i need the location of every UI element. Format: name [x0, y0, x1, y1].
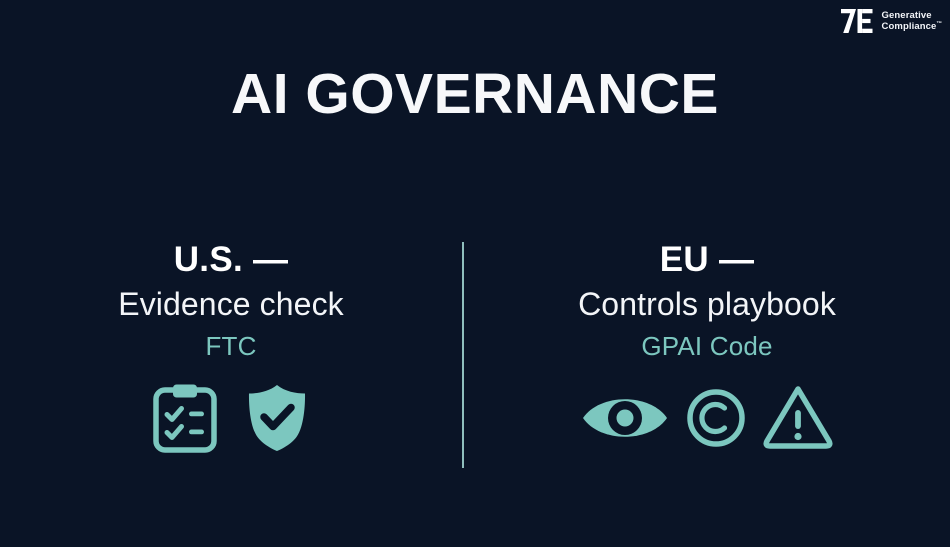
column-eu-tag: GPAI Code: [641, 333, 772, 360]
column-eu-icons: [580, 383, 834, 453]
copyright-icon: [686, 383, 746, 453]
clipboard-checklist-icon: [152, 383, 218, 453]
column-us-tag: FTC: [205, 333, 256, 360]
column-eu-subheading: Controls playbook: [578, 288, 836, 322]
comparison-columns: U.S. — Evidence check FTC: [0, 242, 950, 472]
eye-icon: [580, 383, 670, 453]
page-title: AI GOVERNANCE: [0, 66, 950, 123]
brand-line-1: Generative: [882, 10, 942, 21]
brand-logo: Generative Compliance™: [840, 8, 942, 34]
column-eu-heading: EU —: [660, 242, 755, 279]
trademark-symbol: ™: [936, 21, 942, 27]
column-us-subheading: Evidence check: [118, 288, 344, 322]
column-us-heading: U.S. —: [174, 242, 289, 279]
column-us: U.S. — Evidence check FTC: [0, 242, 462, 453]
brand-line-2: Compliance™: [882, 21, 942, 32]
warning-triangle-icon: [762, 383, 834, 453]
column-eu: EU — Controls playbook GPAI Code: [464, 242, 950, 453]
column-us-icons: [152, 383, 310, 453]
7e-monogram-icon: [840, 8, 874, 34]
shield-check-icon: [244, 383, 310, 453]
brand-wordmark: Generative Compliance™: [882, 10, 942, 33]
slide-canvas: Generative Compliance™ AI GOVERNANCE U.S…: [0, 0, 950, 547]
